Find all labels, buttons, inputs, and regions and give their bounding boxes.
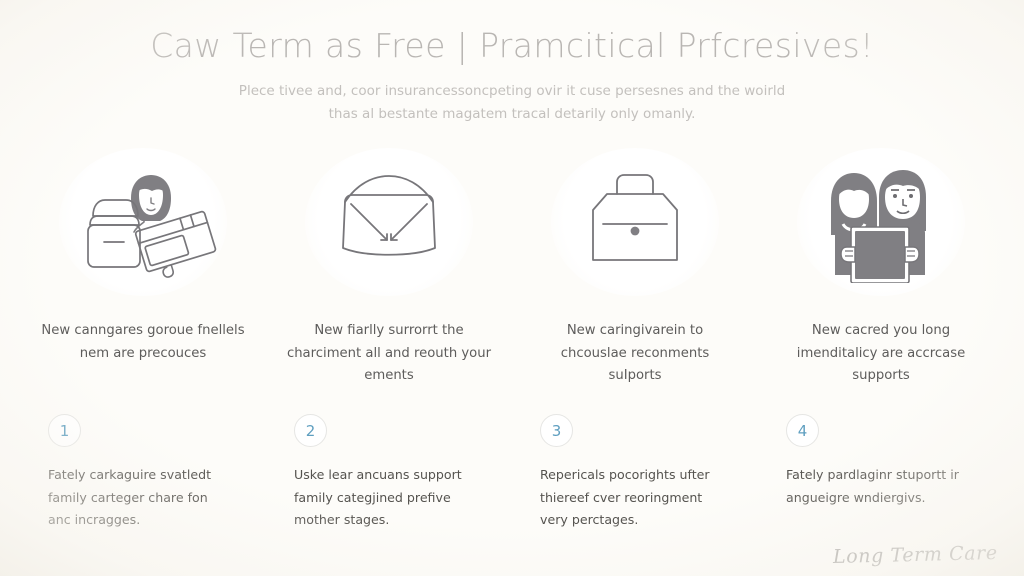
step-text-2: Uske lear ancuans support family categji… [294, 464, 474, 531]
page-title: Caw Term as Free | Pramcitical Prfcresiv… [0, 26, 1024, 66]
feature-caption-2: New fiarlly surrorrt the charciment all … [287, 320, 492, 388]
header: Caw Term as Free | Pramcitical Prfcresiv… [0, 0, 1024, 126]
step-number-badge-3: 3 [540, 414, 573, 447]
feature-item-4: New cacred you long imenditalicy are acc… [758, 148, 1004, 388]
step-item-4: 4 Fately pardlaginr stuportt ir angueigr… [758, 414, 1004, 531]
steps-row: 1 Fately carkaguire svatledt family cart… [0, 414, 1024, 531]
step-text-1: Fately carkaguire svatledt family carteg… [48, 464, 228, 531]
step-text-4: Fately pardlaginr stuportt ir angueigre … [786, 464, 966, 509]
feature-icon-circle-1 [59, 148, 227, 296]
feature-caption-1: New canngares goroue fnellels nem are pr… [41, 320, 246, 365]
feature-icon-circle-3 [551, 148, 719, 296]
step-number-badge-2: 2 [294, 414, 327, 447]
step-item-3: 3 Repericals pocorights ufter thiereef c… [512, 414, 758, 531]
woman-with-boxes-and-books-icon [68, 158, 218, 286]
feature-icon-circle-4 [797, 148, 965, 296]
step-item-2: 2 Uske lear ancuans support family categ… [266, 414, 512, 531]
feature-item-3: New caringivarein to chcouslae reconment… [512, 148, 758, 388]
brand-signature: Long Term Care [833, 542, 998, 568]
feature-icon-circle-2 [305, 148, 473, 296]
feature-caption-4: New cacred you long imenditalicy are acc… [779, 320, 984, 388]
step-number-badge-1: 1 [48, 414, 81, 447]
step-item-1: 1 Fately carkaguire svatledt family cart… [20, 414, 266, 531]
feature-row: New canngares goroue fnellels nem are pr… [0, 148, 1024, 388]
page-subtitle: Plece tivee and, coor insurancessoncpeti… [172, 80, 852, 126]
feature-item-2: New fiarlly surrorrt the charciment all … [266, 148, 512, 388]
slide-root: Caw Term as Free | Pramcitical Prfcresiv… [0, 0, 1024, 576]
subtitle-line-2: thas al bestante magatem tracal detarily… [172, 103, 852, 126]
feature-caption-3: New caringivarein to chcouslae reconment… [533, 320, 738, 388]
couple-reading-document-icon [813, 161, 949, 283]
feature-item-1: New canngares goroue fnellels nem are pr… [20, 148, 266, 388]
medical-briefcase-icon [571, 162, 699, 282]
step-number-badge-4: 4 [786, 414, 819, 447]
open-envelope-icon [323, 162, 455, 282]
step-text-3: Repericals pocorights ufter thiereef cve… [540, 464, 720, 531]
subtitle-line-1: Plece tivee and, coor insurancessoncpeti… [172, 80, 852, 103]
